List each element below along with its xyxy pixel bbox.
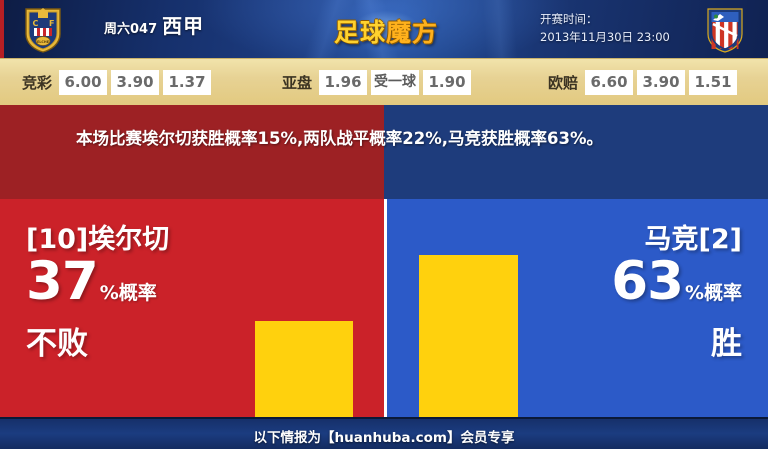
home-outcome-label: 不败 [26, 323, 169, 365]
svg-text:ELCHE: ELCHE [37, 40, 50, 44]
match-preview-graphic: C F ELCHE 周六047西甲 足球魔方 开赛时间： 2013年11月30日… [0, 0, 768, 449]
kickoff-label: 开赛时间： [540, 10, 670, 28]
site-logo: 足球魔方 [318, 0, 454, 58]
odds-group-label: 竞彩 [22, 72, 52, 93]
home-probability-value: 37 [26, 251, 98, 312]
away-team-stats: 马竞[2] 63%概率 胜 [611, 223, 742, 365]
match-meta: 周六047西甲 [104, 10, 204, 39]
atletico-madrid-crest-icon [700, 4, 750, 54]
kickoff-time: 开赛时间： 2013年11月30日 23:00 [540, 10, 670, 46]
odds-cell-draw[interactable]: 3.90 [111, 70, 159, 95]
away-probability-unit: %概率 [685, 282, 742, 304]
odds-cell-draw[interactable]: 3.90 [637, 70, 685, 95]
logo-text-part1: 足球 [334, 18, 386, 47]
panel-divider [384, 199, 387, 417]
odds-group-yapan: 亚盘 1.96 受一球 1.90 [282, 70, 475, 95]
odds-cell-home[interactable]: 1.96 [319, 70, 367, 95]
away-probability-row: 63%概率 [611, 257, 742, 319]
odds-group-label: 欧赔 [548, 72, 578, 93]
odds-cell-away[interactable]: 1.90 [423, 70, 471, 95]
home-team-stats: [10]埃尔切 37%概率 不败 [26, 223, 169, 365]
header-bar: C F ELCHE 周六047西甲 足球魔方 开赛时间： 2013年11月30日… [0, 0, 768, 58]
odds-cell-home[interactable]: 6.60 [585, 70, 633, 95]
header-left-accent [0, 0, 4, 58]
elche-cf-crest-icon: C F ELCHE [18, 4, 68, 54]
logo-text-part2: 魔方 [386, 18, 438, 47]
away-probability-value: 63 [611, 251, 683, 312]
footer-bar: 以下情报为【huanhuba.com】会员专享 [0, 417, 768, 449]
svg-text:F: F [49, 19, 54, 28]
odds-group-label: 亚盘 [282, 72, 312, 93]
match-league-label: 西甲 [162, 14, 204, 38]
bar-home-probability [255, 321, 353, 417]
odds-bar: 竞彩 6.00 3.90 1.37 亚盘 1.96 受一球 1.90 欧赔 6.… [0, 58, 768, 107]
odds-cell-away[interactable]: 1.37 [163, 70, 211, 95]
odds-group-jingcai: 竞彩 6.00 3.90 1.37 [22, 70, 215, 95]
away-outcome-label: 胜 [611, 323, 742, 365]
probability-banner: 本场比赛埃尔切获胜概率15%,两队战平概率22%,马竞获胜概率63%。 [0, 105, 768, 199]
odds-group-oupei: 欧赔 6.60 3.90 1.51 [548, 70, 741, 95]
svg-text:C: C [33, 19, 39, 28]
probability-summary-text: 本场比赛埃尔切获胜概率15%,两队战平概率22%,马竞获胜概率63%。 [76, 124, 716, 154]
odds-cell-home[interactable]: 6.00 [59, 70, 107, 95]
logo-text: 足球魔方 [318, 13, 454, 49]
footer-membership-text: 以下情报为【huanhuba.com】会员专享 [0, 426, 768, 446]
odds-cell-handicap[interactable]: 受一球 [371, 70, 419, 95]
home-probability-row: 37%概率 [26, 257, 169, 319]
probability-chart: [10]埃尔切 37%概率 不败 马竞[2] 63%概率 胜 [0, 199, 768, 417]
home-probability-unit: %概率 [100, 282, 157, 304]
bar-away-probability [419, 255, 518, 417]
kickoff-value: 2013年11月30日 23:00 [540, 28, 670, 46]
match-round-label: 周六047 [104, 22, 157, 37]
odds-cell-away[interactable]: 1.51 [689, 70, 737, 95]
